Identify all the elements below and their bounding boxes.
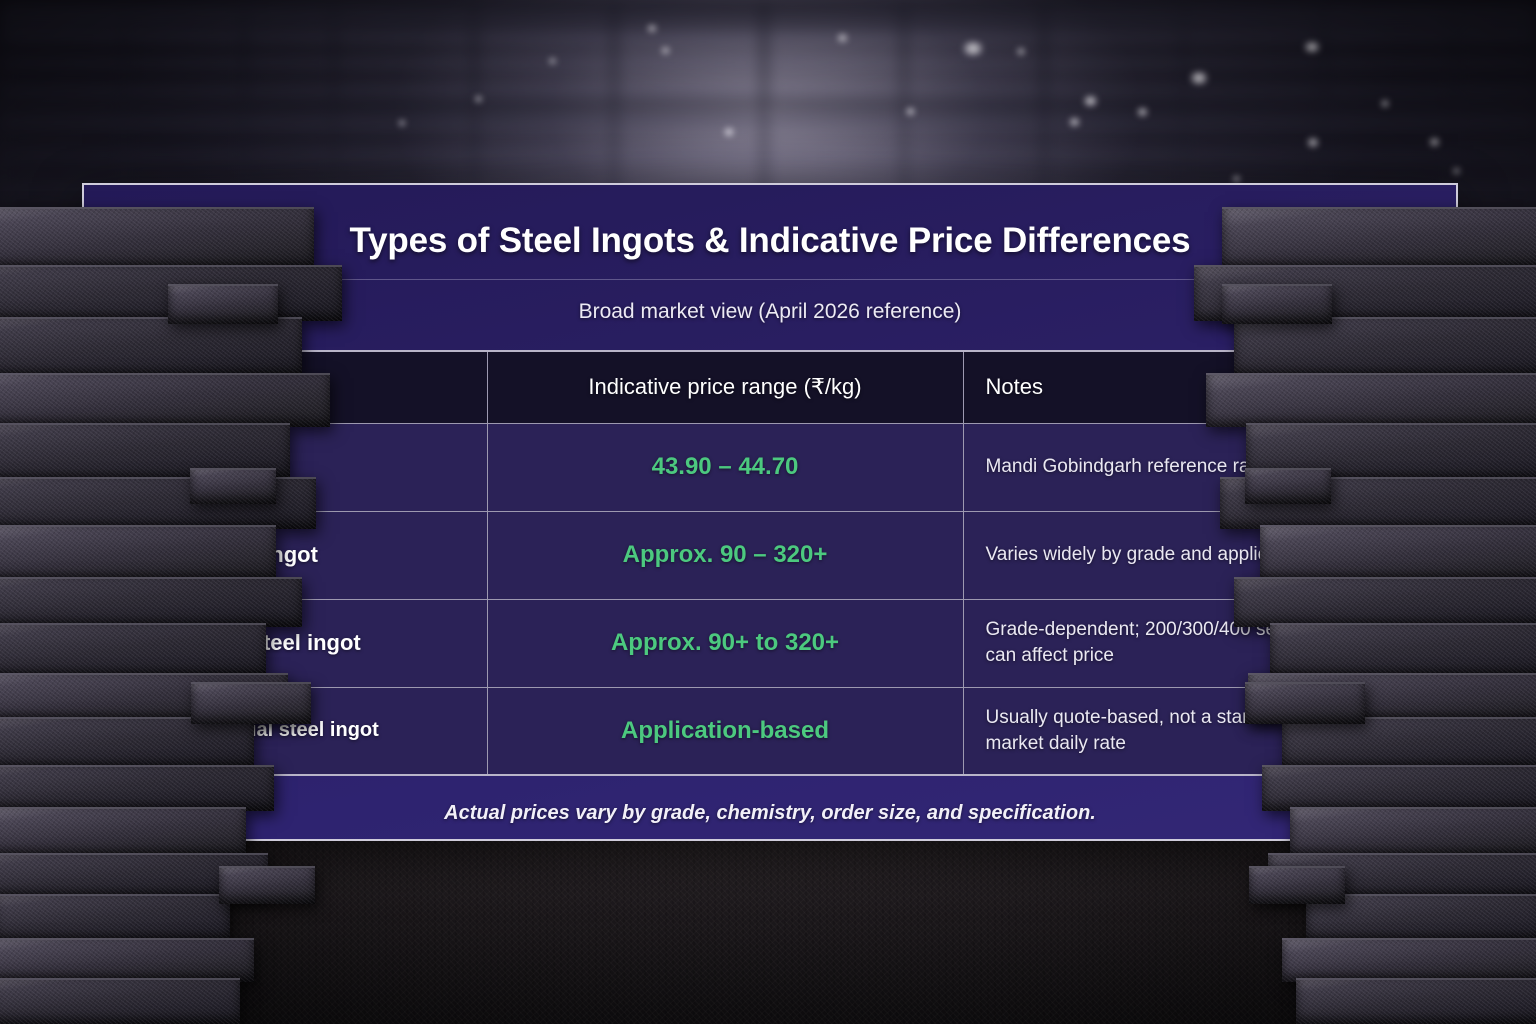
disclaimer-footnote: Actual prices vary by grade, chemistry, … [120,802,1420,825]
cell-price-range: Approx. 90+ to 320+ [487,599,963,687]
cell-price-range: Application-based [487,687,963,775]
cell-price-range: 43.90 – 44.70 [487,423,963,511]
column-header-price-range: Indicative price range (₹/kg) [487,351,963,423]
table-row: Tool / special steel ingot Application-b… [125,687,1421,775]
cell-price-range: Approx. 90 – 320+ [487,511,963,599]
table-row: Stainless steel ingot Approx. 90+ to 320… [125,599,1421,687]
